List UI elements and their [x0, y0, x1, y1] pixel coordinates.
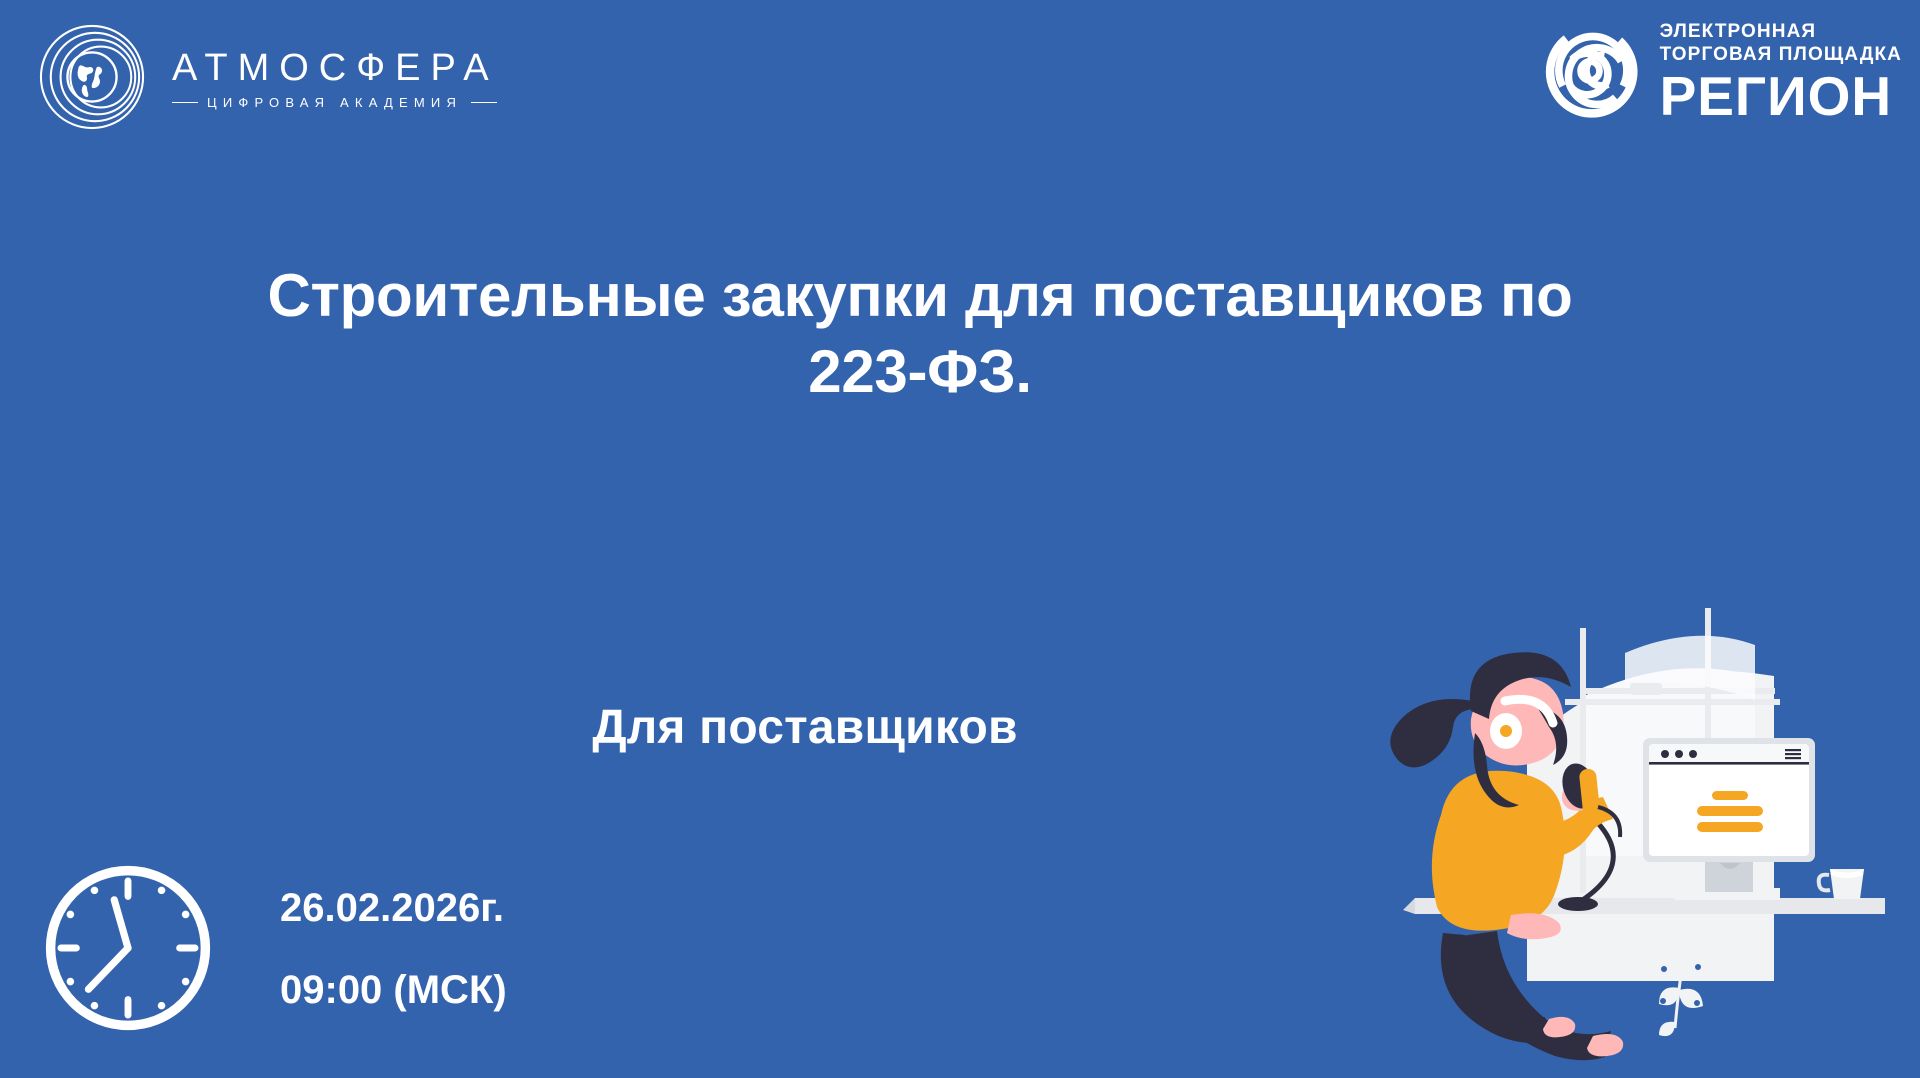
region-tagline-line2: ТОРГОВАЯ ПЛОЩАДКА: [1660, 43, 1902, 66]
webinar-title-slide: АТМОСФЕРА ЦИФРОВАЯ АКАДЕМИЯ ЭЛЕКТРОННАЯ …: [0, 0, 1920, 1078]
academy-logo: АТМОСФЕРА ЦИФРОВАЯ АКАДЕМИЯ: [38, 22, 499, 130]
coffee-cup: [1819, 869, 1864, 899]
region-tagline-line1: ЭЛЕКТРОННАЯ: [1660, 20, 1902, 43]
page-title-line-1: Строительные закупки для поставщиков по: [210, 258, 1630, 334]
clock-icon: [42, 862, 214, 1034]
region-platform-logo: ЭЛЕКТРОННАЯ ТОРГОВАЯ ПЛОЩАДКА РЕГИОН: [1538, 16, 1902, 124]
browser-traffic-lights: [1661, 750, 1697, 758]
academy-tagline: ЦИФРОВАЯ АКАДЕМИЯ: [207, 96, 462, 109]
academy-wordmark: АТМОСФЕРА: [172, 49, 499, 87]
academy-wordmark-block: АТМОСФЕРА ЦИФРОВАЯ АКАДЕМИЯ: [172, 43, 499, 109]
globe-concentric-circles-icon: [38, 22, 146, 130]
woman-with-microphone-at-desk-illustration: [1375, 533, 1920, 1078]
page-title: Строительные закупки для поставщиков по …: [210, 258, 1630, 409]
event-date: 26.02.2026г.: [280, 888, 507, 928]
hamburger-menu-icon: [1785, 749, 1801, 759]
spiral-swirl-icon: [1538, 18, 1642, 122]
region-brand-name: РЕГИОН: [1660, 68, 1902, 124]
event-time: 09:00 (МСК): [280, 970, 507, 1010]
page-title-line-2: 223-ФЗ.: [210, 334, 1630, 410]
page-subtitle: Для поставщиков: [210, 700, 1400, 755]
region-wordmark-block: ЭЛЕКТРОННАЯ ТОРГОВАЯ ПЛОЩАДКА РЕГИОН: [1660, 16, 1902, 124]
schedule-block: 26.02.2026г. 09:00 (МСК): [280, 888, 507, 1010]
